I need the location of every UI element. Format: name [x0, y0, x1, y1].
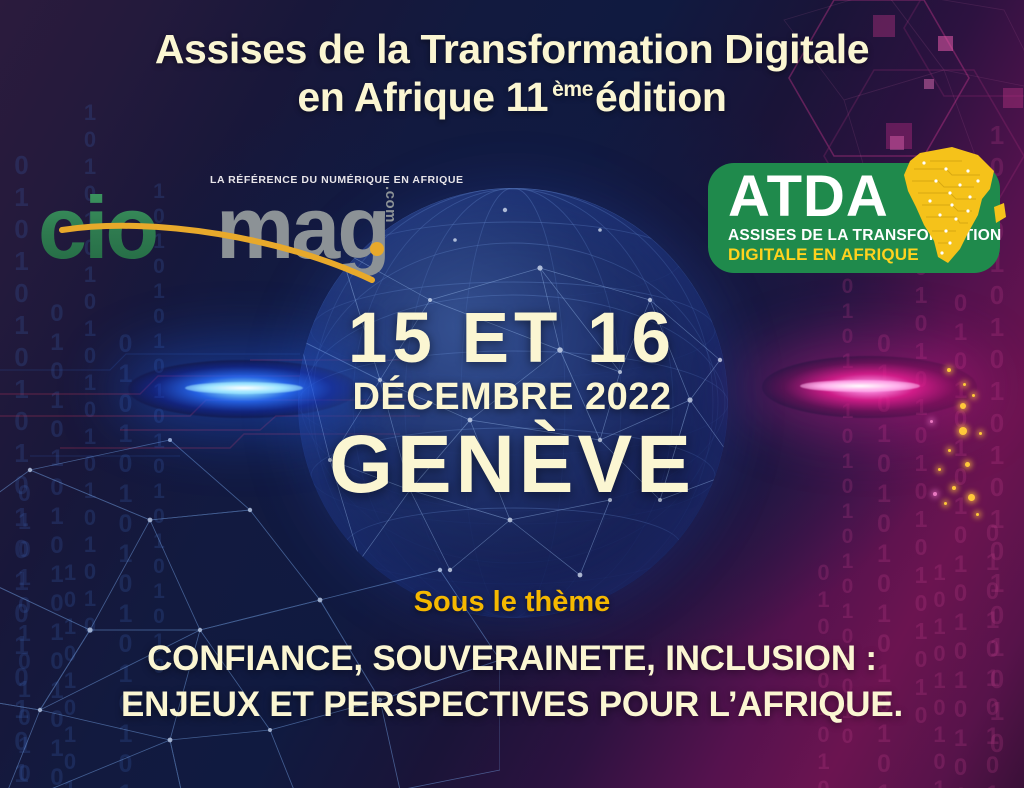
title-line-1: Assises de la Transformation Digitale	[155, 26, 869, 72]
title-edition-word: édition	[595, 74, 727, 120]
poster-content: Assises de la Transformation Digitale en…	[0, 0, 1024, 788]
event-city: GENÈVE	[0, 424, 1024, 506]
theme-text: CONFIANCE, SOUVERAINETE, INCLUSION : ENJ…	[0, 636, 1024, 728]
event-poster: 01010101010101010101 0101010101010101010…	[0, 0, 1024, 788]
title-line-2: en Afrique 11èmeédition	[0, 74, 1024, 122]
title-line-2-text: en Afrique 11	[297, 74, 548, 120]
atda-logo[interactable]: ATDA ASSISES DE LA TRANSFORMATION DIGITA…	[708, 163, 1000, 273]
event-days: 15 ET 16	[0, 303, 1024, 374]
ciomag-logo[interactable]: LA RÉFÉRENCE DU NUMÉRIQUE EN AFRIQUE cio…	[38, 162, 398, 280]
event-month-year: DÉCEMBRE 2022	[0, 378, 1024, 416]
africa-map-icon	[890, 141, 1014, 269]
theme-line-2: ENJEUX ET PERSPECTIVES POUR L’AFRIQUE.	[0, 682, 1024, 728]
poster-title: Assises de la Transformation Digitale en…	[0, 26, 1024, 121]
event-dates: 15 ET 16 DÉCEMBRE 2022	[0, 303, 1024, 416]
atda-acronym: ATDA	[728, 168, 889, 226]
ciomag-swoosh-icon	[34, 186, 404, 286]
theme-label: Sous le thème	[0, 586, 1024, 619]
theme-line-1: CONFIANCE, SOUVERAINETE, INCLUSION :	[0, 636, 1024, 682]
title-ordinal-suffix: ème	[552, 78, 593, 101]
